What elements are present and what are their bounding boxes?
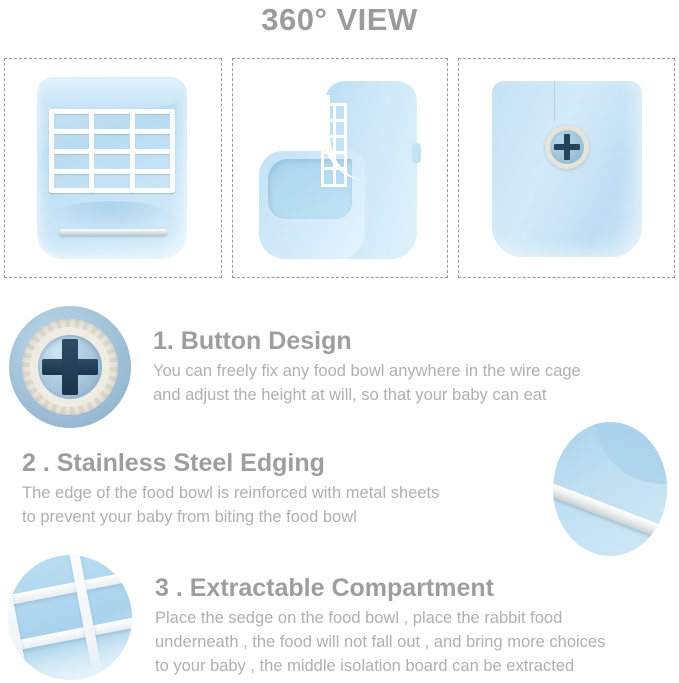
bowl-rim xyxy=(41,79,183,109)
feature-3-heading: 3 . Extractable Compartment xyxy=(155,574,494,603)
stainless-steel-edging-bar xyxy=(59,229,167,236)
product-photo-side-view xyxy=(233,59,447,277)
feature-2-body: The edge of the food bowl is reinforced … xyxy=(22,481,522,529)
bowl-back-illustration xyxy=(492,81,642,257)
product-photo-back-view xyxy=(459,59,674,277)
gallery-frame-side-view[interactable] xyxy=(232,58,448,278)
bowl-side-illustration xyxy=(259,81,417,259)
button-closeup-icon xyxy=(9,306,131,428)
gallery-frame-front-view[interactable] xyxy=(4,58,222,278)
metal-strip xyxy=(553,480,667,546)
sedge-grid xyxy=(49,109,175,193)
sedge-grid-side xyxy=(321,103,347,187)
bowl-body xyxy=(492,81,642,257)
product-gallery xyxy=(0,58,679,282)
cross-vertical-bar xyxy=(564,134,570,160)
cross-button-icon xyxy=(545,125,589,169)
bowl-front-illustration xyxy=(37,77,187,259)
button-side-nub xyxy=(412,143,421,163)
feature-1-body: You can freely fix any food bowl anywher… xyxy=(153,359,653,407)
page-title: 360° VIEW xyxy=(0,2,679,38)
cross-vertical-bar xyxy=(62,339,78,395)
gallery-frame-back-view[interactable] xyxy=(458,58,675,278)
edging-closeup-icon xyxy=(553,422,667,556)
bowl-seam-line xyxy=(554,81,555,121)
grid-closeup-icon xyxy=(8,555,132,680)
bowl-corner-shape xyxy=(593,422,667,484)
feature-1-heading: 1. Button Design xyxy=(153,327,352,356)
product-photo-front-view xyxy=(5,59,221,277)
feature-2-heading: 2 . Stainless Steel Edging xyxy=(22,449,325,478)
feature-3-body: Place the sedge on the food bowl , place… xyxy=(155,606,665,678)
